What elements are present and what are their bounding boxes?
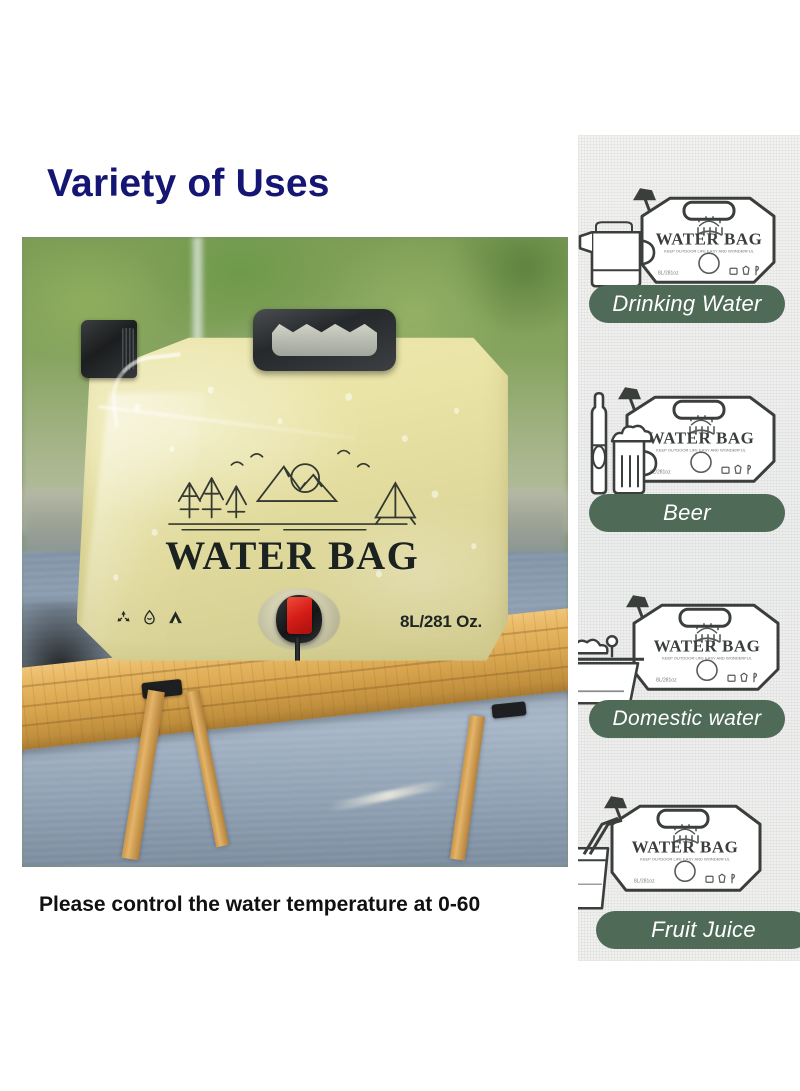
svg-text:8L/281oz: 8L/281oz <box>658 270 679 276</box>
use-label-fruit-juice: Fruit Juice <box>596 911 800 949</box>
use-label-drinking-water: Drinking Water <box>589 285 785 323</box>
use-panel-drinking-water[interactable]: WATER BAG KEEP OUTDOOR LIFE EASY AND WON… <box>578 135 800 342</box>
bag-carry-handle <box>253 309 395 371</box>
use-label-domestic-water: Domestic water <box>589 700 785 738</box>
water-bag-product: WATER BAG <box>77 313 508 678</box>
use-panel-fruit-juice[interactable]: WATER BAG KEEP OUTDOOR LIFE EASY AND WON… <box>578 755 800 962</box>
use-panel-domestic-water[interactable]: WATER BAG KEEP OUTDOOR LIFE EASY AND WON… <box>578 548 800 755</box>
product-photo: WATER BAG <box>22 237 568 867</box>
use-panel-beer[interactable]: WATER BAG KEEP OUTDOOR LIFE EASY AND WON… <box>578 342 800 549</box>
svg-text:8L/281oz: 8L/281oz <box>656 677 677 683</box>
use-case-sidebar: WATER BAG KEEP OUTDOOR LIFE EASY AND WON… <box>578 135 800 961</box>
use-label-beer: Beer <box>589 494 785 532</box>
svg-text:8L/281oz: 8L/281oz <box>634 878 655 884</box>
product-infographic-page: Variety of Uses <box>0 0 800 1091</box>
temperature-note: Please control the water temperature at … <box>39 893 480 917</box>
page-title: Variety of Uses <box>47 162 330 206</box>
